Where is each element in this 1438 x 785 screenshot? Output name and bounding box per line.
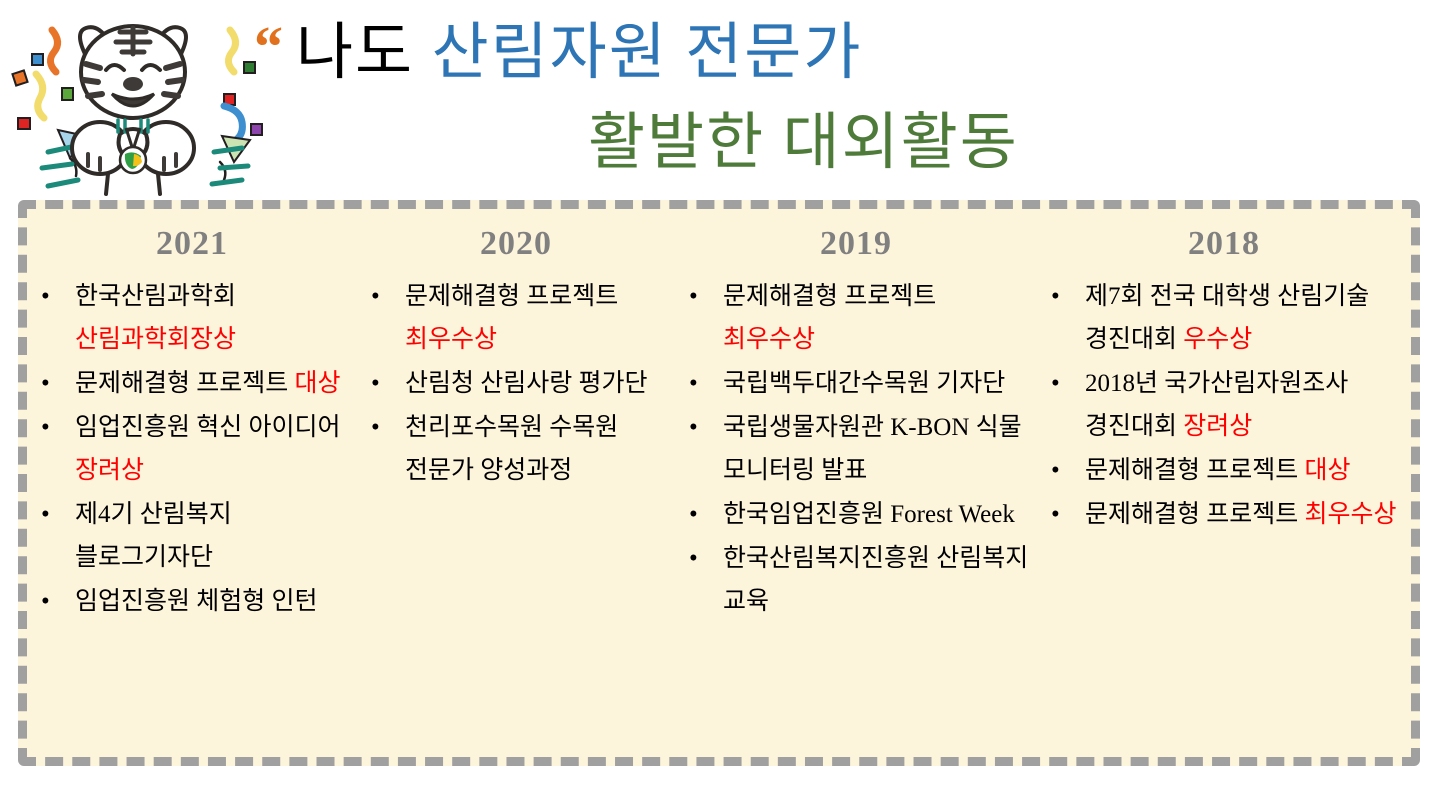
bullet-icon: • [371, 275, 380, 318]
item-text: 천리포수목원 수목원 전문가 양성과정 [405, 414, 618, 484]
year-heading-2018: 2018 [1043, 227, 1405, 261]
award-label: 최우수상 [723, 326, 815, 353]
title-part-activities: 활발한 대외활동 [588, 109, 1019, 177]
award-label: 최우수상 [1305, 501, 1397, 528]
bullet-icon: • [689, 362, 698, 405]
achievement-list-2018: •제7회 전국 대학생 산림기술 경진대회 우수상 •2018년 국가산림자원조… [1043, 275, 1405, 536]
bullet-icon: • [371, 362, 380, 405]
list-item: •임업진흥원 혁신 아이디어 장려상 [33, 406, 351, 492]
award-label: 대상 [295, 370, 341, 397]
list-item: •한국임업진흥원 Forest Week [681, 493, 1031, 536]
list-item: •한국산림복지진흥원 산림복지 교육 [681, 537, 1031, 623]
item-text: 문제해결형 프로젝트 [723, 283, 936, 310]
header-banner: “ 나도 산림자원 전문가 활발한 대외활동 ” [0, 0, 1438, 196]
achievement-list-2020: •문제해결형 프로젝트 최우수상 •산림청 산림사랑 평가단 •천리포수목원 수… [363, 275, 669, 492]
list-item: •문제해결형 프로젝트 대상 [33, 362, 351, 405]
title-part-forest-expert: 산림자원 전문가 [432, 19, 863, 87]
bullet-icon: • [1051, 362, 1060, 405]
item-text: 문제해결형 프로젝트 [405, 283, 618, 310]
list-item: •문제해결형 프로젝트 최우수상 [681, 275, 1031, 361]
item-text: 한국산림과학회 [75, 283, 236, 310]
bullet-icon: • [41, 275, 50, 318]
item-text: 국립생물자원관 K-BON 식물 모니터링 발표 [723, 414, 1022, 484]
award-label: 대상 [1305, 457, 1351, 484]
list-item: •천리포수목원 수목원 전문가 양성과정 [363, 406, 669, 492]
year-columns: 2021 •한국산림과학회 산림과학회장상 •문제해결형 프로젝트 대상 •임업… [27, 209, 1411, 757]
award-label: 장려상 [1183, 413, 1252, 440]
title-part-nado: 나도 [296, 19, 432, 87]
item-text: 문제해결형 프로젝트 [1085, 457, 1305, 484]
achievements-panel: 2021 •한국산림과학회 산림과학회장상 •문제해결형 프로젝트 대상 •임업… [18, 200, 1420, 766]
bullet-icon: • [1051, 275, 1060, 318]
bullet-icon: • [689, 537, 698, 580]
item-text: 제4기 산림복지 블로그기자단 [75, 501, 232, 571]
year-heading-2020: 2020 [363, 227, 669, 261]
list-item: •임업진흥원 체험형 인턴 [33, 580, 351, 623]
list-item: •한국산림과학회 산림과학회장상 [33, 275, 351, 361]
bullet-icon: • [41, 362, 50, 405]
award-label: 장려상 [75, 457, 144, 484]
item-text: 임업진흥원 혁신 아이디어 [75, 414, 341, 441]
list-item: •문제해결형 프로젝트 최우수상 [1043, 493, 1405, 536]
list-item: •제7회 전국 대학생 산림기술 경진대회 우수상 [1043, 275, 1405, 361]
list-item: •산림청 산림사랑 평가단 [363, 362, 669, 405]
year-heading-2019: 2019 [681, 227, 1031, 261]
bullet-icon: • [1051, 449, 1060, 492]
title-block: “ 나도 산림자원 전문가 활발한 대외활동 ” [250, 0, 1438, 196]
bullet-icon: • [689, 275, 698, 318]
item-text: 산림청 산림사랑 평가단 [405, 370, 648, 397]
list-item: •문제해결형 프로젝트 최우수상 [363, 275, 669, 361]
award-label: 최우수상 [405, 326, 497, 353]
list-item: •문제해결형 프로젝트 대상 [1043, 449, 1405, 492]
bullet-icon: • [689, 406, 698, 449]
list-item: •제4기 산림복지 블로그기자단 [33, 493, 351, 579]
list-item: •2018년 국가산림자원조사 경진대회 장려상 [1043, 362, 1405, 448]
item-text: 문제해결형 프로젝트 [1085, 501, 1305, 528]
year-heading-2021: 2021 [33, 227, 351, 261]
year-column-2018: 2018 •제7회 전국 대학생 산림기술 경진대회 우수상 •2018년 국가… [1037, 209, 1411, 547]
item-text: 한국산림복지진흥원 산림복지 교육 [723, 545, 1028, 615]
year-column-2021: 2021 •한국산림과학회 산림과학회장상 •문제해결형 프로젝트 대상 •임업… [27, 209, 357, 634]
year-column-2020: 2020 •문제해결형 프로젝트 최우수상 •산림청 산림사랑 평가단 •천리포… [357, 209, 675, 503]
page-title-line-1: 나도 산림자원 전문가 [296, 22, 862, 84]
item-text: 문제해결형 프로젝트 [75, 370, 295, 397]
page-title-line-2: 활발한 대외활동 ” [588, 112, 1019, 174]
achievement-list-2021: •한국산림과학회 산림과학회장상 •문제해결형 프로젝트 대상 •임업진흥원 혁… [33, 275, 351, 623]
tiger-mascot-icon [8, 8, 268, 196]
year-column-2019: 2019 •문제해결형 프로젝트 최우수상 •국립백두대간수목원 기자단 •국립… [675, 209, 1037, 634]
bullet-icon: • [41, 580, 50, 623]
bullet-icon: • [1051, 493, 1060, 536]
item-text: 한국임업진흥원 Forest Week [723, 501, 1015, 528]
item-text: 임업진흥원 체험형 인턴 [75, 588, 318, 615]
award-label: 산림과학회장상 [75, 326, 236, 353]
achievement-list-2019: •문제해결형 프로젝트 최우수상 •국립백두대간수목원 기자단 •국립생물자원관… [681, 275, 1031, 623]
award-label: 우수상 [1183, 326, 1252, 353]
list-item: •국립생물자원관 K-BON 식물 모니터링 발표 [681, 406, 1031, 492]
list-item: •국립백두대간수목원 기자단 [681, 362, 1031, 405]
bullet-icon: • [41, 493, 50, 536]
item-text: 국립백두대간수목원 기자단 [723, 370, 1005, 397]
bullet-icon: • [371, 406, 380, 449]
bullet-icon: • [689, 493, 698, 536]
open-quote-icon: “ [254, 18, 283, 76]
bullet-icon: • [41, 406, 50, 449]
